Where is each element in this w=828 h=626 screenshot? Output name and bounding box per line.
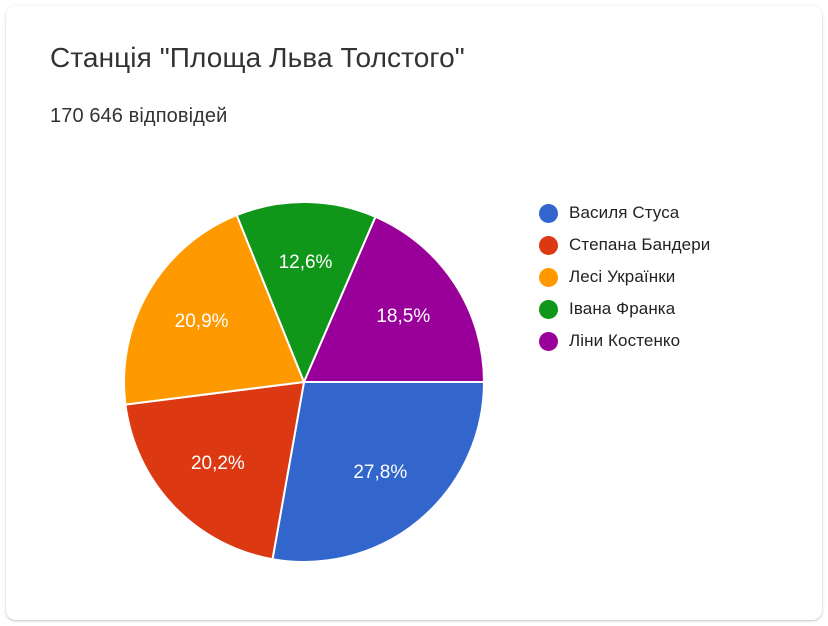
chart-card: Станція "Площа Льва Толстого" 170 646 ві… — [6, 6, 822, 620]
legend-item-label: Василя Стуса — [569, 203, 679, 223]
legend-item[interactable]: Івана Франка — [539, 298, 710, 320]
circle-marker-green-icon — [539, 300, 558, 319]
legend-item[interactable]: Василя Стуса — [539, 202, 710, 224]
chart-legend: Василя СтусаСтепана БандериЛесі Українки… — [539, 202, 710, 352]
pie-slice-label: 20,9% — [175, 311, 229, 332]
circle-marker-blue-icon — [539, 204, 558, 223]
pie-slice-label: 27,8% — [353, 462, 407, 483]
circle-marker-orange-icon — [539, 268, 558, 287]
pie-slice-label: 12,6% — [279, 252, 333, 273]
legend-item[interactable]: Ліни Костенко — [539, 330, 710, 352]
circle-marker-purple-icon — [539, 332, 558, 351]
pie-slice-label: 20,2% — [191, 453, 245, 474]
pie-slice-label: 18,5% — [376, 306, 430, 327]
legend-item[interactable]: Лесі Українки — [539, 266, 710, 288]
legend-item[interactable]: Степана Бандери — [539, 234, 710, 256]
legend-item-label: Івана Франка — [569, 299, 675, 319]
legend-item-label: Лесі Українки — [569, 267, 675, 287]
circle-marker-red-icon — [539, 236, 558, 255]
legend-item-label: Ліни Костенко — [569, 331, 680, 351]
legend-item-label: Степана Бандери — [569, 235, 710, 255]
